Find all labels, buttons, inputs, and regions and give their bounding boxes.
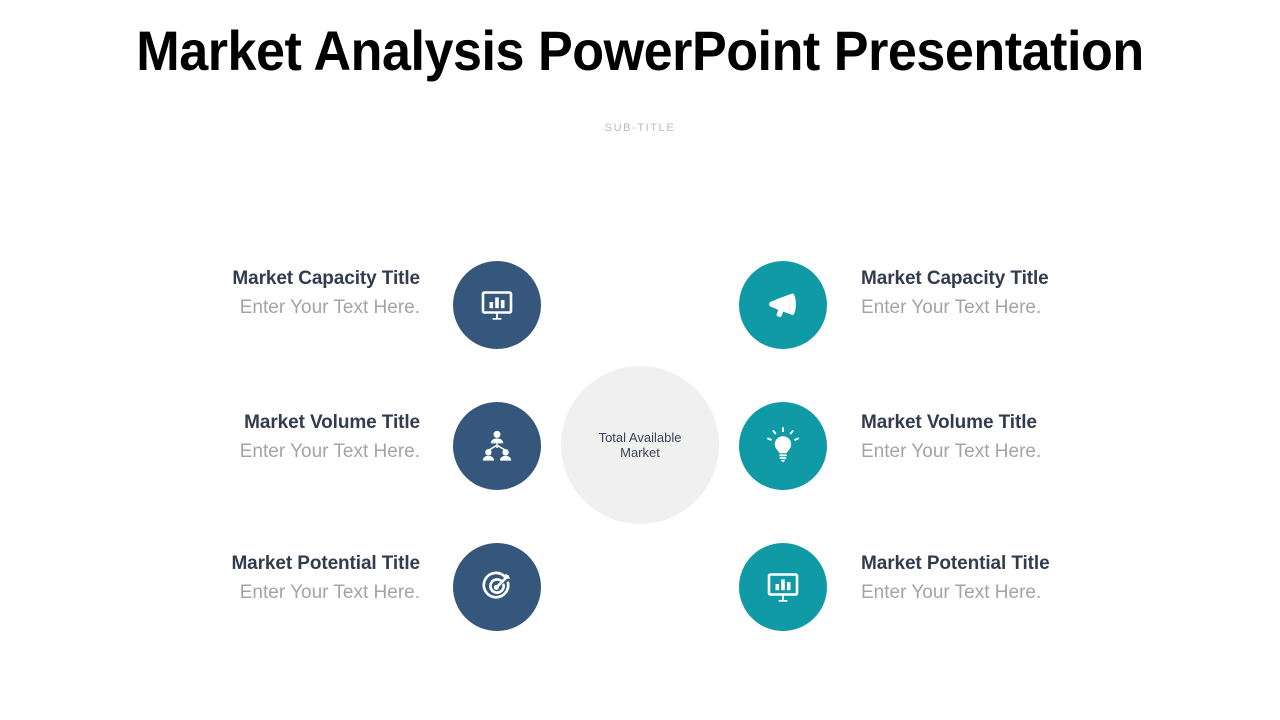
block-description: Enter Your Text Here. <box>861 439 1091 465</box>
text-block-right-3: Market Potential Title Enter Your Text H… <box>861 551 1091 605</box>
page-subtitle: SUB-TITLE <box>0 120 1280 136</box>
text-block-right-2: Market Volume Title Enter Your Text Here… <box>861 410 1091 464</box>
block-description: Enter Your Text Here. <box>861 580 1091 606</box>
center-label-line-2: Market <box>620 445 660 460</box>
icon-circle-left-2[interactable] <box>453 402 541 490</box>
icon-circle-left-3[interactable] <box>453 543 541 631</box>
block-title: Market Capacity Title <box>190 266 420 292</box>
presentation-chart-icon <box>763 567 803 607</box>
presentation-chart-icon <box>477 285 517 325</box>
block-title: Market Capacity Title <box>861 266 1091 292</box>
icon-circle-right-1[interactable] <box>739 261 827 349</box>
target-arrow-icon <box>477 567 517 607</box>
team-hierarchy-icon <box>477 426 517 466</box>
lightbulb-icon <box>762 425 804 467</box>
block-description: Enter Your Text Here. <box>861 295 1091 321</box>
block-title: Market Volume Title <box>190 410 420 436</box>
center-label-line-1: Total Available <box>599 430 682 445</box>
block-title: Market Volume Title <box>861 410 1091 436</box>
block-description: Enter Your Text Here. <box>190 439 420 465</box>
total-available-market-circle: Total Available Market <box>561 366 719 524</box>
block-description: Enter Your Text Here. <box>190 295 420 321</box>
text-block-left-1: Market Capacity Title Enter Your Text He… <box>190 266 420 320</box>
slide-canvas: Market Analysis PowerPoint Presentation … <box>0 0 1280 720</box>
icon-circle-right-2[interactable] <box>739 402 827 490</box>
icon-circle-left-1[interactable] <box>453 261 541 349</box>
block-title: Market Potential Title <box>190 551 420 577</box>
text-block-left-2: Market Volume Title Enter Your Text Here… <box>190 410 420 464</box>
block-description: Enter Your Text Here. <box>190 580 420 606</box>
megaphone-icon <box>762 284 804 326</box>
icon-circle-right-3[interactable] <box>739 543 827 631</box>
text-block-left-3: Market Potential Title Enter Your Text H… <box>190 551 420 605</box>
page-title: Market Analysis PowerPoint Presentation <box>45 16 1235 86</box>
center-circle-label: Total Available Market <box>580 430 700 460</box>
block-title: Market Potential Title <box>861 551 1091 577</box>
text-block-right-1: Market Capacity Title Enter Your Text He… <box>861 266 1091 320</box>
